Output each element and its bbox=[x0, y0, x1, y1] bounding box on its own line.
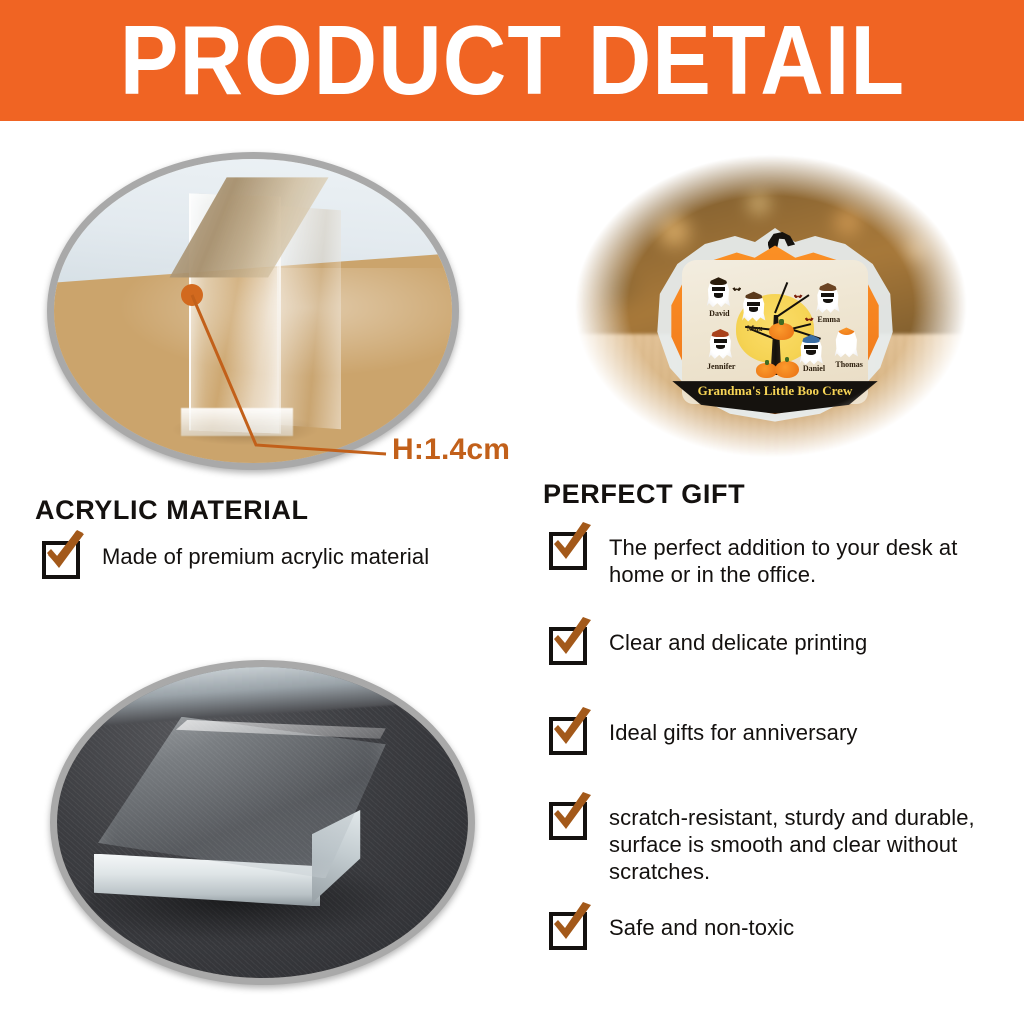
ghost-hair bbox=[710, 277, 728, 285]
checkbox-checked bbox=[549, 712, 595, 756]
ghost-character bbox=[705, 277, 733, 307]
checkmark-icon bbox=[43, 531, 87, 577]
plaque-banner-text: Grandma's Little Boo Crew bbox=[698, 380, 853, 397]
ghost-eyes-icon bbox=[712, 287, 725, 291]
mini-pumpkin-icon bbox=[756, 363, 776, 377]
ghost-name-label: Emma bbox=[808, 316, 849, 324]
feature-item: Made of premium acrylic material bbox=[42, 536, 512, 580]
checkbox-checked bbox=[549, 527, 595, 571]
feature-item: The perfect addition to your desk at hom… bbox=[549, 527, 1001, 588]
checkbox-checked bbox=[549, 797, 595, 841]
ghost-character bbox=[706, 329, 734, 359]
feature-text: Clear and delicate printing bbox=[595, 622, 867, 656]
checkbox-checked bbox=[42, 536, 88, 580]
checkmark-icon bbox=[550, 792, 594, 838]
section-title-acrylic-material: ACRYLIC MATERIAL bbox=[35, 497, 309, 524]
feature-item: Safe and non-toxic bbox=[549, 907, 1001, 951]
feature-item: Ideal gifts for anniversary bbox=[549, 712, 1001, 756]
pumpkin-head-icon bbox=[838, 323, 855, 335]
pumpkin-plaque: David Max Emma Jennifer bbox=[650, 228, 900, 428]
ghost-eyes-icon bbox=[821, 293, 834, 297]
ghost-name-label: Jennifer bbox=[697, 363, 745, 371]
ghost-hair bbox=[745, 291, 763, 299]
feature-text: Made of premium acrylic material bbox=[88, 536, 429, 570]
ghost-eyes-icon bbox=[804, 345, 817, 349]
checkbox-checked bbox=[549, 907, 595, 951]
ghost-name-label: David bbox=[699, 310, 740, 318]
ghost-character bbox=[814, 283, 842, 313]
ghost-mouth-icon bbox=[714, 293, 723, 298]
checkmark-icon bbox=[550, 522, 594, 568]
header-banner: PRODUCT DETAIL bbox=[0, 0, 1024, 121]
height-callout-label: H:1.4cm bbox=[392, 435, 510, 465]
ghost-hair bbox=[711, 328, 729, 336]
ghost-name-label: Thomas bbox=[827, 361, 871, 369]
feature-item: scratch-resistant, sturdy and durable, s… bbox=[549, 797, 1001, 885]
feature-item: Clear and delicate printing bbox=[549, 622, 1001, 666]
ghost-character bbox=[832, 328, 860, 358]
checkmark-icon bbox=[550, 707, 594, 753]
bat-icon bbox=[732, 287, 741, 291]
acrylic-slab-on-slate-photo bbox=[50, 660, 475, 985]
ghost-mouth-icon bbox=[749, 307, 758, 312]
height-callout-leader bbox=[170, 282, 415, 472]
page-title: PRODUCT DETAIL bbox=[119, 12, 904, 110]
callout-leader-line bbox=[192, 295, 386, 454]
ghost-hair bbox=[819, 282, 837, 290]
checkmark-icon bbox=[550, 902, 594, 948]
checkbox-checked bbox=[549, 622, 595, 666]
ghost-mouth-icon bbox=[806, 350, 815, 355]
ghost-eyes-icon bbox=[714, 339, 727, 343]
pumpkin-acrylic-plaque-photo: David Max Emma Jennifer bbox=[569, 150, 973, 462]
ghost-eyes-icon bbox=[747, 302, 760, 306]
ghost-mouth-icon bbox=[823, 299, 832, 304]
feature-text: The perfect addition to your desk at hom… bbox=[595, 527, 1001, 588]
feature-text: scratch-resistant, sturdy and durable, s… bbox=[595, 797, 1001, 885]
feature-text: Safe and non-toxic bbox=[595, 907, 794, 941]
ghost-mouth-icon bbox=[716, 345, 725, 350]
ghost-name-label: Max bbox=[734, 325, 775, 333]
plaque-banner: Grandma's Little Boo Crew bbox=[672, 380, 877, 414]
checkmark-icon bbox=[550, 617, 594, 663]
feature-text: Ideal gifts for anniversary bbox=[595, 712, 857, 746]
section-title-perfect-gift: PERFECT GIFT bbox=[543, 481, 745, 508]
